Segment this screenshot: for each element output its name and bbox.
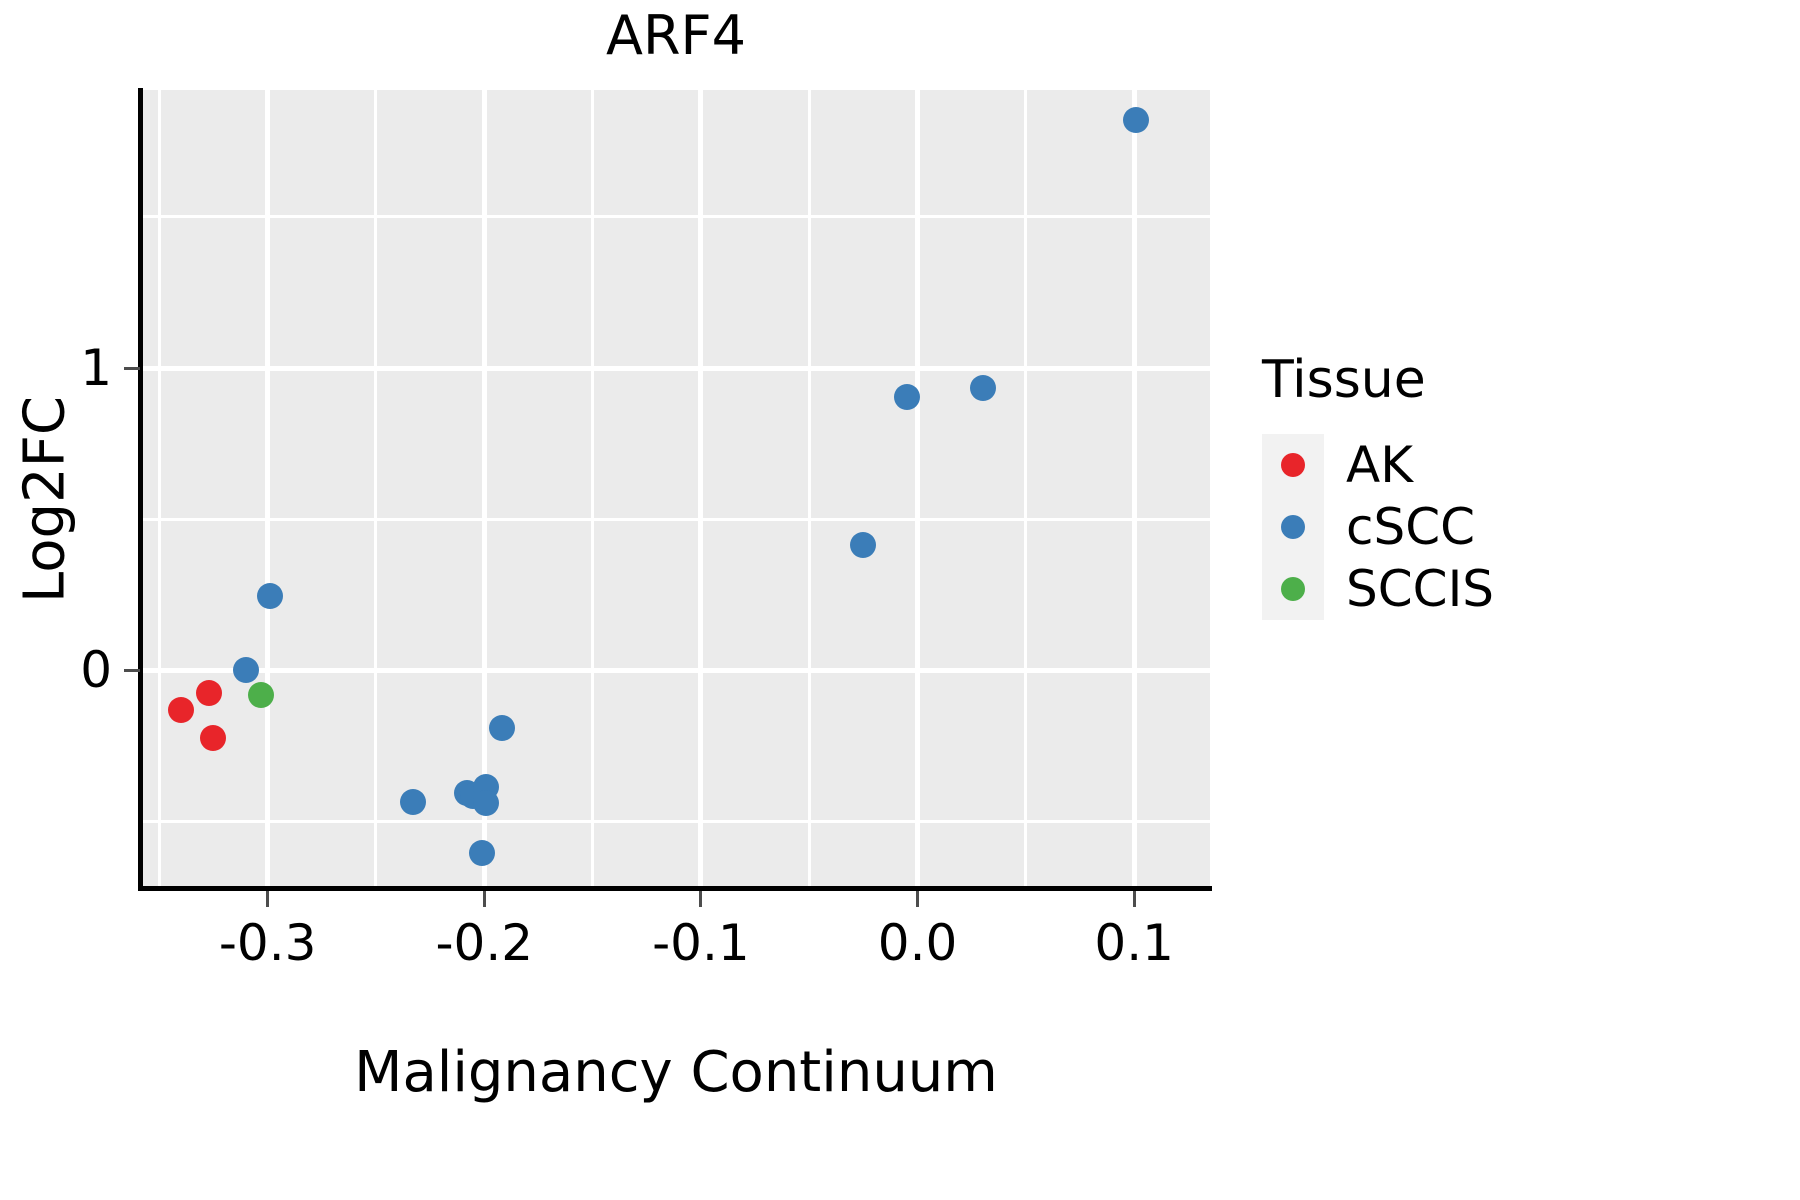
y-tick-label: 1: [80, 339, 112, 397]
data-point: [894, 384, 920, 410]
x-tick-mark: [916, 891, 919, 907]
legend-item-label: SCCIS: [1346, 560, 1494, 618]
legend-item-ak[interactable]: AK: [1262, 434, 1742, 496]
gridline-major-vertical: [915, 90, 920, 888]
y-tick-mark: [124, 669, 140, 672]
legend-key-swatch: [1262, 434, 1324, 496]
legend-dot-icon: [1281, 453, 1305, 477]
plot-panel: [142, 90, 1210, 888]
x-axis-label: Malignancy Continuum: [142, 1040, 1210, 1105]
data-point: [469, 840, 495, 866]
data-point: [168, 697, 194, 723]
legend-item-cscc[interactable]: cSCC: [1262, 496, 1742, 558]
gridline-major-vertical: [482, 90, 487, 888]
legend-dot-icon: [1281, 577, 1305, 601]
legend-title: Tissue: [1262, 350, 1742, 410]
legend-item-sccis[interactable]: SCCIS: [1262, 558, 1742, 620]
x-tick-label: -0.2: [435, 914, 533, 972]
data-point: [233, 657, 259, 683]
y-axis-label: Log2FC: [13, 220, 78, 780]
y-tick-label: 0: [80, 641, 112, 699]
gridline-minor-vertical: [158, 90, 161, 888]
gridline-major-vertical: [698, 90, 703, 888]
data-point: [400, 789, 426, 815]
legend-item-label: cSCC: [1346, 498, 1475, 556]
legend: Tissue AKcSCCSCCIS: [1262, 350, 1742, 620]
gridline-major-horizontal: [142, 366, 1210, 371]
gridline-minor-vertical: [591, 90, 594, 888]
gridline-minor-horizontal: [142, 820, 1210, 823]
x-tick-mark: [483, 891, 486, 907]
gridline-major-vertical: [1132, 90, 1137, 888]
x-tick-label: 0.1: [1094, 914, 1174, 972]
legend-item-label: AK: [1346, 436, 1413, 494]
gridline-major-vertical: [265, 90, 270, 888]
legend-key-swatch: [1262, 496, 1324, 558]
data-point: [257, 583, 283, 609]
data-point: [196, 680, 222, 706]
gridline-major-horizontal: [142, 668, 1210, 673]
data-point: [1123, 107, 1149, 133]
legend-dot-icon: [1281, 515, 1305, 539]
x-tick-label: -0.3: [219, 914, 317, 972]
x-tick-mark: [1133, 891, 1136, 907]
x-axis-line: [138, 886, 1212, 891]
x-tick-label: 0.0: [878, 914, 958, 972]
y-tick-mark: [124, 367, 140, 370]
gridline-minor-horizontal: [142, 215, 1210, 218]
legend-items: AKcSCCSCCIS: [1262, 434, 1742, 620]
y-axis-line: [138, 88, 143, 890]
gridline-minor-horizontal: [142, 518, 1210, 521]
data-point: [200, 725, 226, 751]
data-point: [970, 375, 996, 401]
x-tick-mark: [266, 891, 269, 907]
page-title: ARF4: [142, 8, 1210, 65]
data-point: [473, 790, 499, 816]
data-point: [489, 715, 515, 741]
gridline-minor-vertical: [1024, 90, 1027, 888]
legend-key-swatch: [1262, 558, 1324, 620]
gridline-minor-vertical: [374, 90, 377, 888]
x-tick-label: -0.1: [652, 914, 750, 972]
chart-figure: ARF4 -0.3-0.2-0.10.00.1 01 Malignancy Co…: [0, 0, 1800, 1200]
x-tick-mark: [699, 891, 702, 907]
data-point: [248, 682, 274, 708]
data-point: [850, 532, 876, 558]
gridline-minor-vertical: [808, 90, 811, 888]
